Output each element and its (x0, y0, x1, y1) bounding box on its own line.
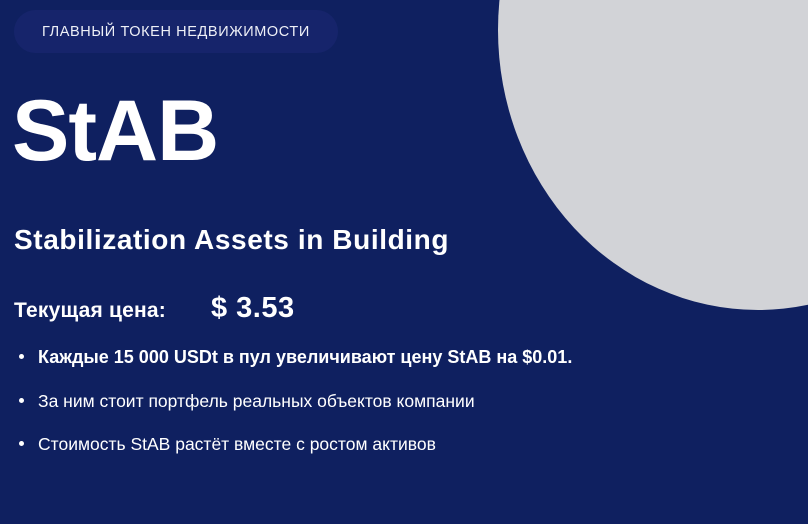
page-subtitle: Stabilization Assets in Building (14, 224, 449, 256)
badge-main-real-estate-token: ГЛАВНЫЙ ТОКЕН НЕДВИЖИМОСТИ (14, 10, 338, 53)
feature-bullet-list: Каждые 15 000 USDt в пул увеличивают цен… (14, 344, 674, 475)
badge-label: ГЛАВНЫЙ ТОКЕН НЕДВИЖИМОСТИ (42, 24, 310, 40)
hero-content: ГЛАВНЫЙ ТОКЕН НЕДВИЖИМОСТИ StAB Stabiliz… (0, 0, 700, 524)
current-price-value: $ 3.53 (211, 292, 295, 325)
list-item-label: Стоимость StAB растёт вместе с ростом ак… (38, 434, 436, 454)
bullet-dot-icon (19, 354, 24, 359)
hero-section: ГЛАВНЫЙ ТОКЕН НЕДВИЖИМОСТИ StAB Stabiliz… (0, 0, 808, 524)
bullet-dot-icon (19, 441, 24, 446)
list-item-label: За ним стоит портфель реальных объектов … (38, 391, 475, 411)
current-price-label: Текущая цена: (14, 299, 166, 323)
bullet-dot-icon (19, 398, 24, 403)
current-price-row: Текущая цена: $ 3.53 (14, 292, 295, 325)
list-item: Стоимость StAB растёт вместе с ростом ак… (14, 431, 674, 457)
list-item: За ним стоит портфель реальных объектов … (14, 388, 674, 414)
list-item-label: Каждые 15 000 USDt в пул увеличивают цен… (38, 347, 572, 367)
page-title: StAB (12, 88, 218, 174)
list-item: Каждые 15 000 USDt в пул увеличивают цен… (14, 344, 674, 371)
